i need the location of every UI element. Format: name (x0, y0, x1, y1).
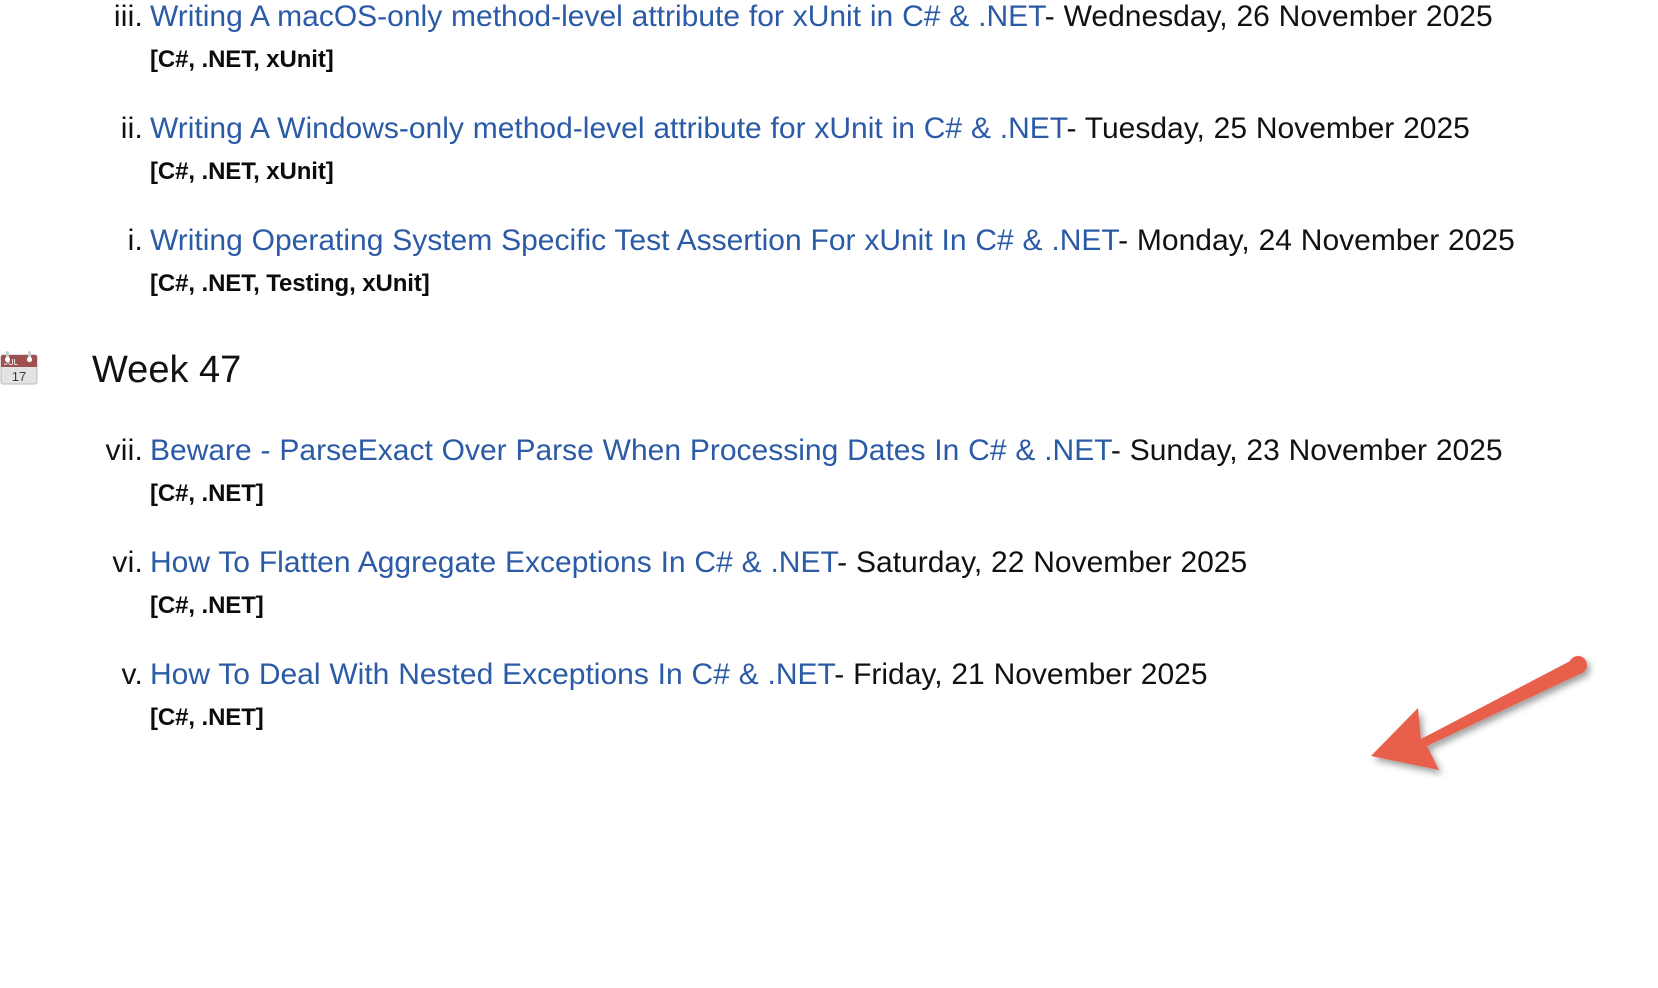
list-item: iii. Writing A macOS-only method-level a… (0, 0, 1658, 80)
post-date: Monday, 24 November 2025 (1137, 224, 1515, 257)
svg-text:17: 17 (12, 369, 26, 384)
list-item: i. Writing Operating System Specific Tes… (0, 218, 1658, 304)
week-heading: JUL 17 Week 47 (0, 346, 1658, 394)
post-date: Tuesday, 25 November 2025 (1085, 112, 1470, 145)
list-item: v. How To Deal With Nested Exceptions In… (0, 652, 1658, 738)
post-tags: [C#, .NET] (150, 698, 1598, 738)
post-tags: [C#, .NET, xUnit] (150, 152, 1598, 192)
post-tags: [C#, .NET, Testing, xUnit] (150, 264, 1598, 304)
post-title-link[interactable]: Writing A Windows-only method-level attr… (150, 112, 1066, 145)
list-item-line: Writing A macOS-only method-level attrib… (150, 0, 1598, 39)
post-date: Saturday, 22 November 2025 (856, 546, 1247, 579)
list-item-line: How To Flatten Aggregate Exceptions In C… (150, 540, 1598, 585)
week-heading-text: Week 47 (92, 349, 241, 391)
list-item-marker: vii. (0, 428, 143, 473)
svg-text:JUL: JUL (4, 358, 19, 367)
list-item-line: Writing Operating System Specific Test A… (150, 218, 1598, 263)
list-item-line: Writing A Windows-only method-level attr… (150, 106, 1598, 151)
tear-off-calendar-icon: JUL 17 (0, 350, 38, 386)
post-separator: - (1066, 112, 1076, 145)
list-item-line: How To Deal With Nested Exceptions In C#… (150, 652, 1598, 697)
post-separator: - (834, 658, 844, 691)
post-title-link[interactable]: How To Deal With Nested Exceptions In C#… (150, 658, 834, 691)
post-tags: [C#, .NET] (150, 586, 1598, 626)
post-separator: - (1111, 434, 1121, 467)
list-item-marker: vi. (0, 540, 143, 585)
post-tags: [C#, .NET] (150, 474, 1598, 514)
list-item: vii. Beware - ParseExact Over Parse When… (0, 428, 1658, 514)
list-item-line: Beware - ParseExact Over Parse When Proc… (150, 428, 1598, 473)
list-item: ii. Writing A Windows-only method-level … (0, 106, 1658, 192)
post-title-link[interactable]: Writing A macOS-only method-level attrib… (150, 0, 1045, 33)
post-separator: - (837, 546, 847, 579)
post-list: iii. Writing A macOS-only method-level a… (0, 0, 1658, 764)
post-separator: - (1045, 0, 1055, 33)
list-item-marker: i. (0, 218, 143, 263)
blog-archive-page: iii. Writing A macOS-only method-level a… (0, 0, 1658, 988)
post-title-link[interactable]: Beware - ParseExact Over Parse When Proc… (150, 434, 1111, 467)
list-item: vi. How To Flatten Aggregate Exceptions … (0, 540, 1658, 626)
post-title-link[interactable]: How To Flatten Aggregate Exceptions In C… (150, 546, 837, 579)
post-separator: - (1118, 224, 1128, 257)
post-tags: [C#, .NET, xUnit] (150, 40, 1598, 80)
post-title-link[interactable]: Writing Operating System Specific Test A… (150, 224, 1118, 257)
list-item-marker: ii. (0, 106, 143, 151)
post-date: Friday, 21 November 2025 (853, 658, 1207, 691)
list-item-marker: v. (0, 652, 143, 697)
post-date: Wednesday, 26 November 2025 (1064, 0, 1493, 33)
post-date: Sunday, 23 November 2025 (1130, 434, 1503, 467)
list-item-marker: iii. (0, 0, 143, 39)
